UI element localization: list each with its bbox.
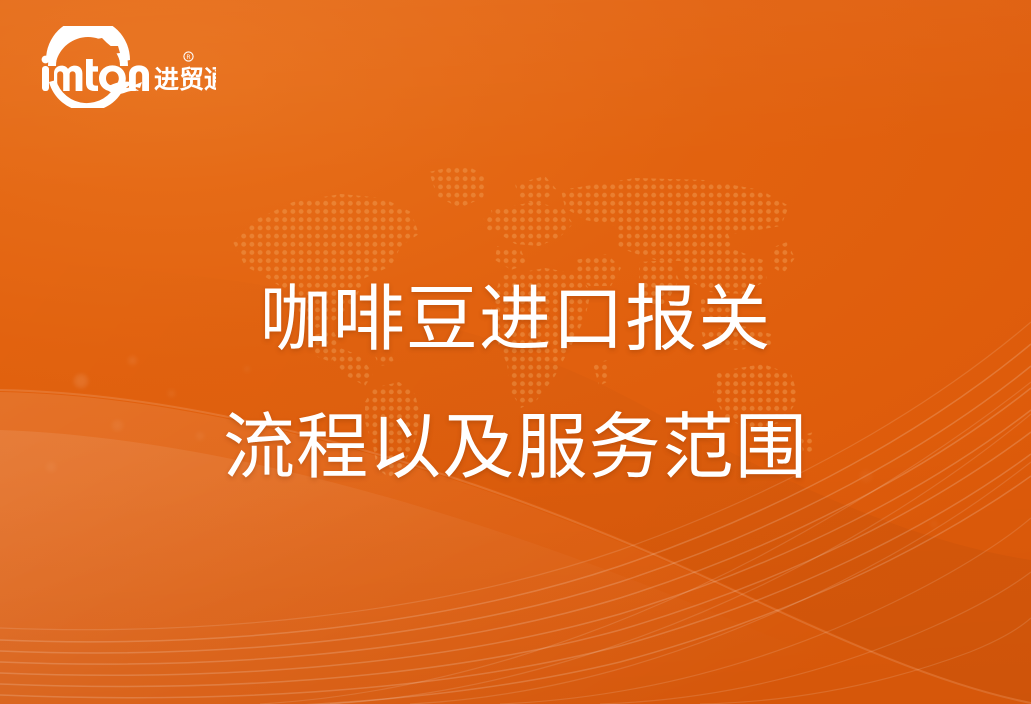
imton-logo[interactable]: 进贸通 R bbox=[36, 26, 216, 108]
promo-banner: 进贸通 R 咖啡豆进口报关 流程以及服务范围 bbox=[0, 0, 1031, 704]
page-title: 咖啡豆进口报关 流程以及服务范围 bbox=[0, 256, 1031, 512]
svg-text:R: R bbox=[186, 54, 190, 61]
logo-chinese-name: 进贸通 bbox=[154, 65, 216, 94]
headline-line-2: 流程以及服务范围 bbox=[0, 384, 1031, 512]
headline-line-1: 咖啡豆进口报关 bbox=[0, 256, 1031, 384]
